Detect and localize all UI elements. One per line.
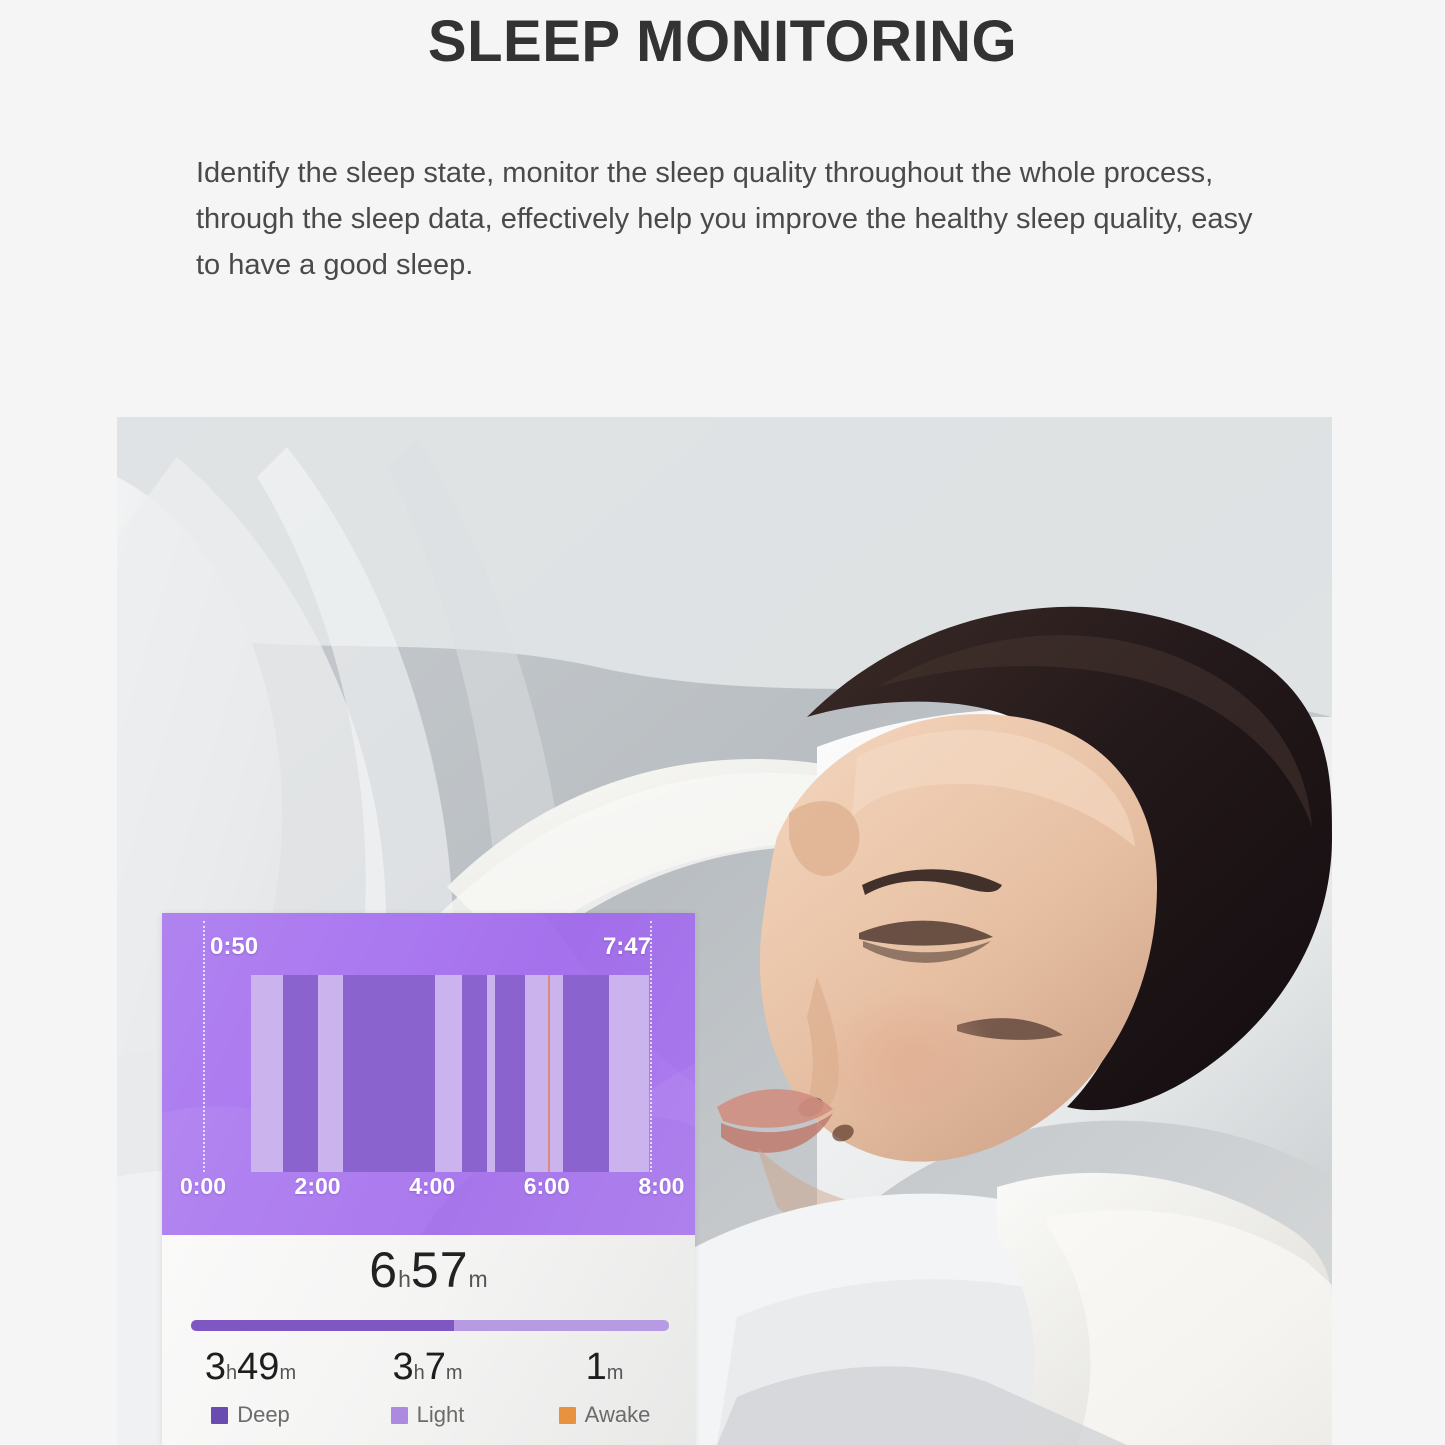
x-tick-2-00: 2:00 xyxy=(295,1173,341,1200)
sleep-stat-awake-value: 1m xyxy=(516,1348,693,1386)
page-description: Identify the sleep state, monitor the sl… xyxy=(196,150,1266,288)
sleep-stage-bars[interactable] xyxy=(203,975,690,1172)
sleep-stat-deep-legend: Deep xyxy=(162,1402,339,1428)
sleep-stat-awake-legend: Awake xyxy=(516,1402,693,1428)
sleep-ratio-deep-fill xyxy=(191,1320,454,1331)
sleep-stat-deep-value: 3h49m xyxy=(162,1348,339,1386)
sleep-bar-light[interactable] xyxy=(487,975,496,1172)
sleep-bar-light[interactable] xyxy=(435,975,462,1172)
sleep-stat-columns: 3h49mDeep3h7mLight1mAwake xyxy=(162,1348,695,1443)
legend-label-awake: Awake xyxy=(585,1402,651,1428)
sleep-start-time: 0:50 xyxy=(210,933,258,961)
sleep-stat-awake: 1mAwake xyxy=(516,1348,693,1428)
sleep-stage-chart[interactable]: 0:50 7:47 0:002:004:006:008:00 xyxy=(162,913,695,1235)
sleep-monitoring-page: SLEEP MONITORING Identify the sleep stat… xyxy=(0,0,1445,1445)
sleep-stats-panel: 6h57m 3h49mDeep3h7mLight1mAwake xyxy=(162,1235,695,1445)
legend-label-deep: Deep xyxy=(237,1402,290,1428)
chart-x-axis: 0:002:004:006:008:00 xyxy=(162,1173,695,1217)
sleep-end-time: 7:47 xyxy=(603,933,651,961)
sleep-bar-deep[interactable] xyxy=(343,975,385,1172)
chart-plot-area xyxy=(203,975,690,1172)
total-minutes-value: 57 xyxy=(411,1242,469,1298)
x-tick-4-00: 4:00 xyxy=(409,1173,455,1200)
sleep-stat-light-value: 3h7m xyxy=(339,1348,516,1386)
sleep-bar-light[interactable] xyxy=(318,975,344,1172)
sleep-bar-light[interactable] xyxy=(609,975,649,1172)
legend-swatch-light-icon xyxy=(391,1407,408,1424)
sleep-bar-light[interactable] xyxy=(251,975,284,1172)
total-hours-value: 6 xyxy=(369,1242,398,1298)
sleep-stat-light: 3h7mLight xyxy=(339,1348,516,1428)
sleep-bar-deep[interactable] xyxy=(410,975,435,1172)
total-minutes-unit: m xyxy=(469,1266,488,1292)
sleep-bar-deep[interactable] xyxy=(495,975,525,1172)
sleep-stat-light-legend: Light xyxy=(339,1402,516,1428)
legend-swatch-awake-icon xyxy=(559,1407,576,1424)
sleep-bar-deep[interactable] xyxy=(462,975,487,1172)
x-tick-6-00: 6:00 xyxy=(524,1173,570,1200)
sleep-bar-deep[interactable] xyxy=(283,975,317,1172)
sleep-bar-awake[interactable] xyxy=(548,975,550,1172)
total-hours-unit: h xyxy=(398,1266,411,1292)
sleep-bar-deep[interactable] xyxy=(385,975,410,1172)
sleep-bar-light[interactable] xyxy=(525,975,563,1172)
sleep-stat-deep: 3h49mDeep xyxy=(162,1348,339,1428)
sleep-ratio-bar xyxy=(191,1320,669,1331)
sleep-summary-widget[interactable]: 0:50 7:47 0:002:004:006:008:00 6h57m 3h4… xyxy=(162,913,695,1445)
legend-label-light: Light xyxy=(417,1402,465,1428)
page-title: SLEEP MONITORING xyxy=(0,8,1445,75)
x-tick-0-00: 0:00 xyxy=(180,1173,226,1200)
legend-swatch-deep-icon xyxy=(211,1407,228,1424)
sleep-bar-deep[interactable] xyxy=(563,975,609,1172)
x-tick-8-00: 8:00 xyxy=(638,1173,684,1200)
total-sleep-duration: 6h57m xyxy=(162,1245,695,1295)
